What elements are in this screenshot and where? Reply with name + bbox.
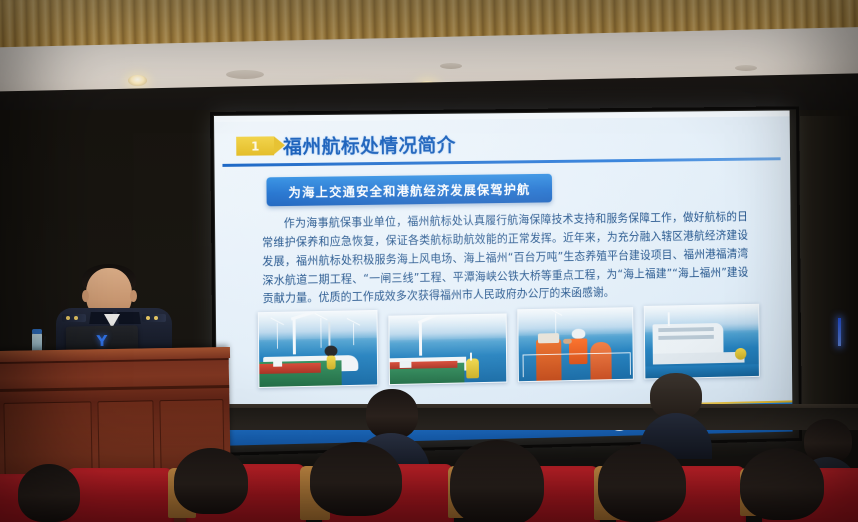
audience-member	[590, 444, 694, 522]
deck-railing	[522, 352, 630, 377]
heading-text: 福州航标处情况简介	[283, 130, 456, 159]
subtitle-banner-wrap: 为海上交通安全和港航经济发展保驾护航	[266, 174, 551, 206]
accent-light	[838, 318, 841, 346]
speaker-ear	[82, 290, 89, 302]
audience-member	[442, 440, 552, 522]
photo-crew-in-life-vest	[517, 307, 634, 382]
mast-icon	[555, 313, 556, 335]
audience-member	[732, 448, 832, 522]
laptop-brand-logo: Y	[96, 334, 107, 349]
slide-body-paragraph: 作为海事航保事业单位，福州航标处认真履行航海保障技术支持和服务保障工作，做好航标…	[262, 208, 749, 309]
ceiling-vent	[226, 70, 264, 79]
bottle-cap	[32, 329, 42, 334]
section-number-chip: 1	[236, 136, 274, 155]
audience-seating	[0, 397, 858, 522]
photo-service-vessel	[644, 304, 760, 380]
audience-member	[12, 464, 86, 522]
conference-room-scene: 1 福州航标处情况简介 为海上交通安全和港航经济发展保驾护航 作为海事航保事业单…	[0, 0, 858, 522]
ceiling-vent	[735, 65, 757, 71]
safety-helmet	[571, 329, 585, 339]
right-wall-panel	[800, 116, 858, 416]
downlight	[128, 75, 147, 86]
wind-turbine-icon	[353, 323, 354, 345]
ceiling-vent	[440, 63, 462, 69]
speaker-ear	[130, 290, 137, 302]
subtitle-text: 为海上交通安全和港航经济发展保驾护航	[288, 182, 530, 200]
buoy	[327, 355, 336, 369]
uniform-collar	[117, 312, 141, 324]
subtitle-banner: 为海上交通安全和港航经济发展保驾护航	[266, 174, 551, 206]
photo-buoy-tender-wind-farm	[258, 310, 378, 388]
audience-member	[162, 448, 258, 522]
epaulet	[62, 314, 86, 322]
epaulet	[142, 314, 166, 322]
slide-heading: 1 福州航标处情况简介	[236, 130, 456, 159]
photo-crane-lifting-buoy	[388, 313, 507, 385]
audience-member	[300, 442, 412, 522]
audience-member	[640, 373, 712, 451]
yellow-buoy	[466, 358, 479, 378]
section-number: 1	[251, 140, 259, 152]
